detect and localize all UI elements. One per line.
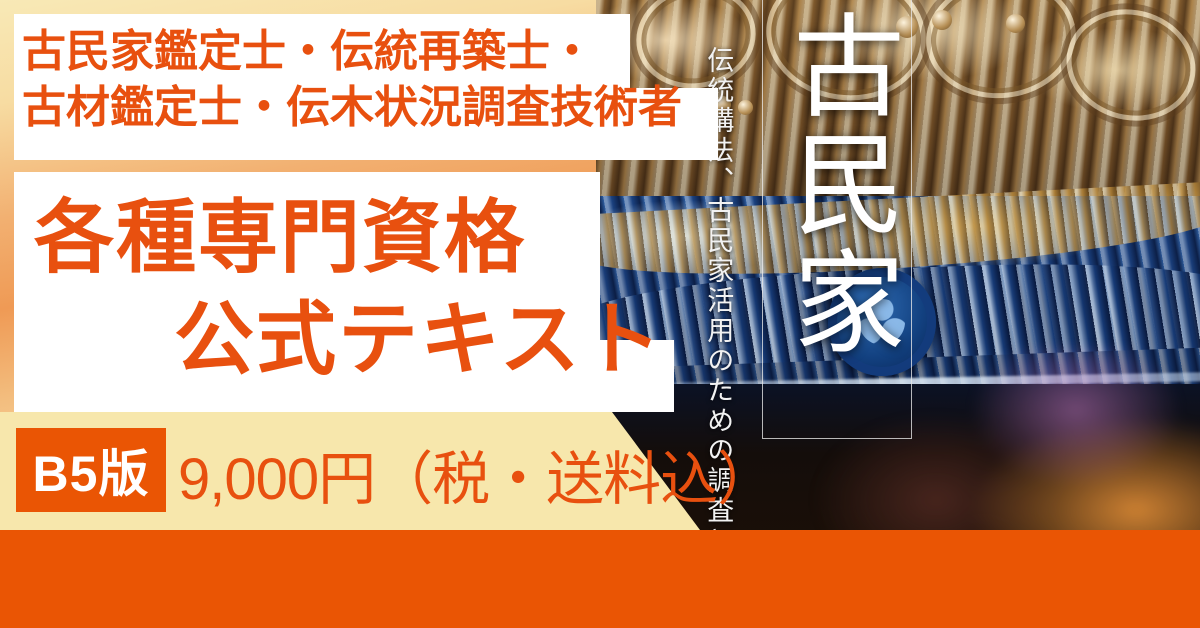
headline-line-1: 各種専門資格	[34, 192, 526, 283]
wood-swirl-ornament	[1055, 0, 1200, 134]
promo-banner: 古民家 伝統構法、古民家活用のための調査と再生の 古民家鑑定士・伝統再築士・ 古…	[0, 0, 1200, 628]
format-badge: B5版	[16, 428, 166, 512]
carving-bead	[738, 100, 753, 115]
price-amount: 9,000円（税・送料込）	[178, 432, 774, 516]
carving-bead	[1006, 14, 1025, 33]
cta-bar[interactable]: 詳細・ご購入はこちら	[0, 530, 1200, 628]
carving-bead	[932, 10, 952, 30]
headline-line-2: 公式テキスト	[174, 294, 664, 385]
headline-text: 各種専門資格 公式テキスト	[14, 182, 674, 412]
qualifications-text: 古民家鑑定士・伝統再築士・ 古材鑑定士・伝木状況調査技術者	[22, 24, 682, 137]
qualifications-line-2: 古材鑑定士・伝木状況調査技術者	[22, 80, 682, 136]
cover-title-text: 古民家	[772, 8, 900, 362]
qualifications-line-1: 古民家鑑定士・伝統再築士・	[22, 24, 682, 80]
